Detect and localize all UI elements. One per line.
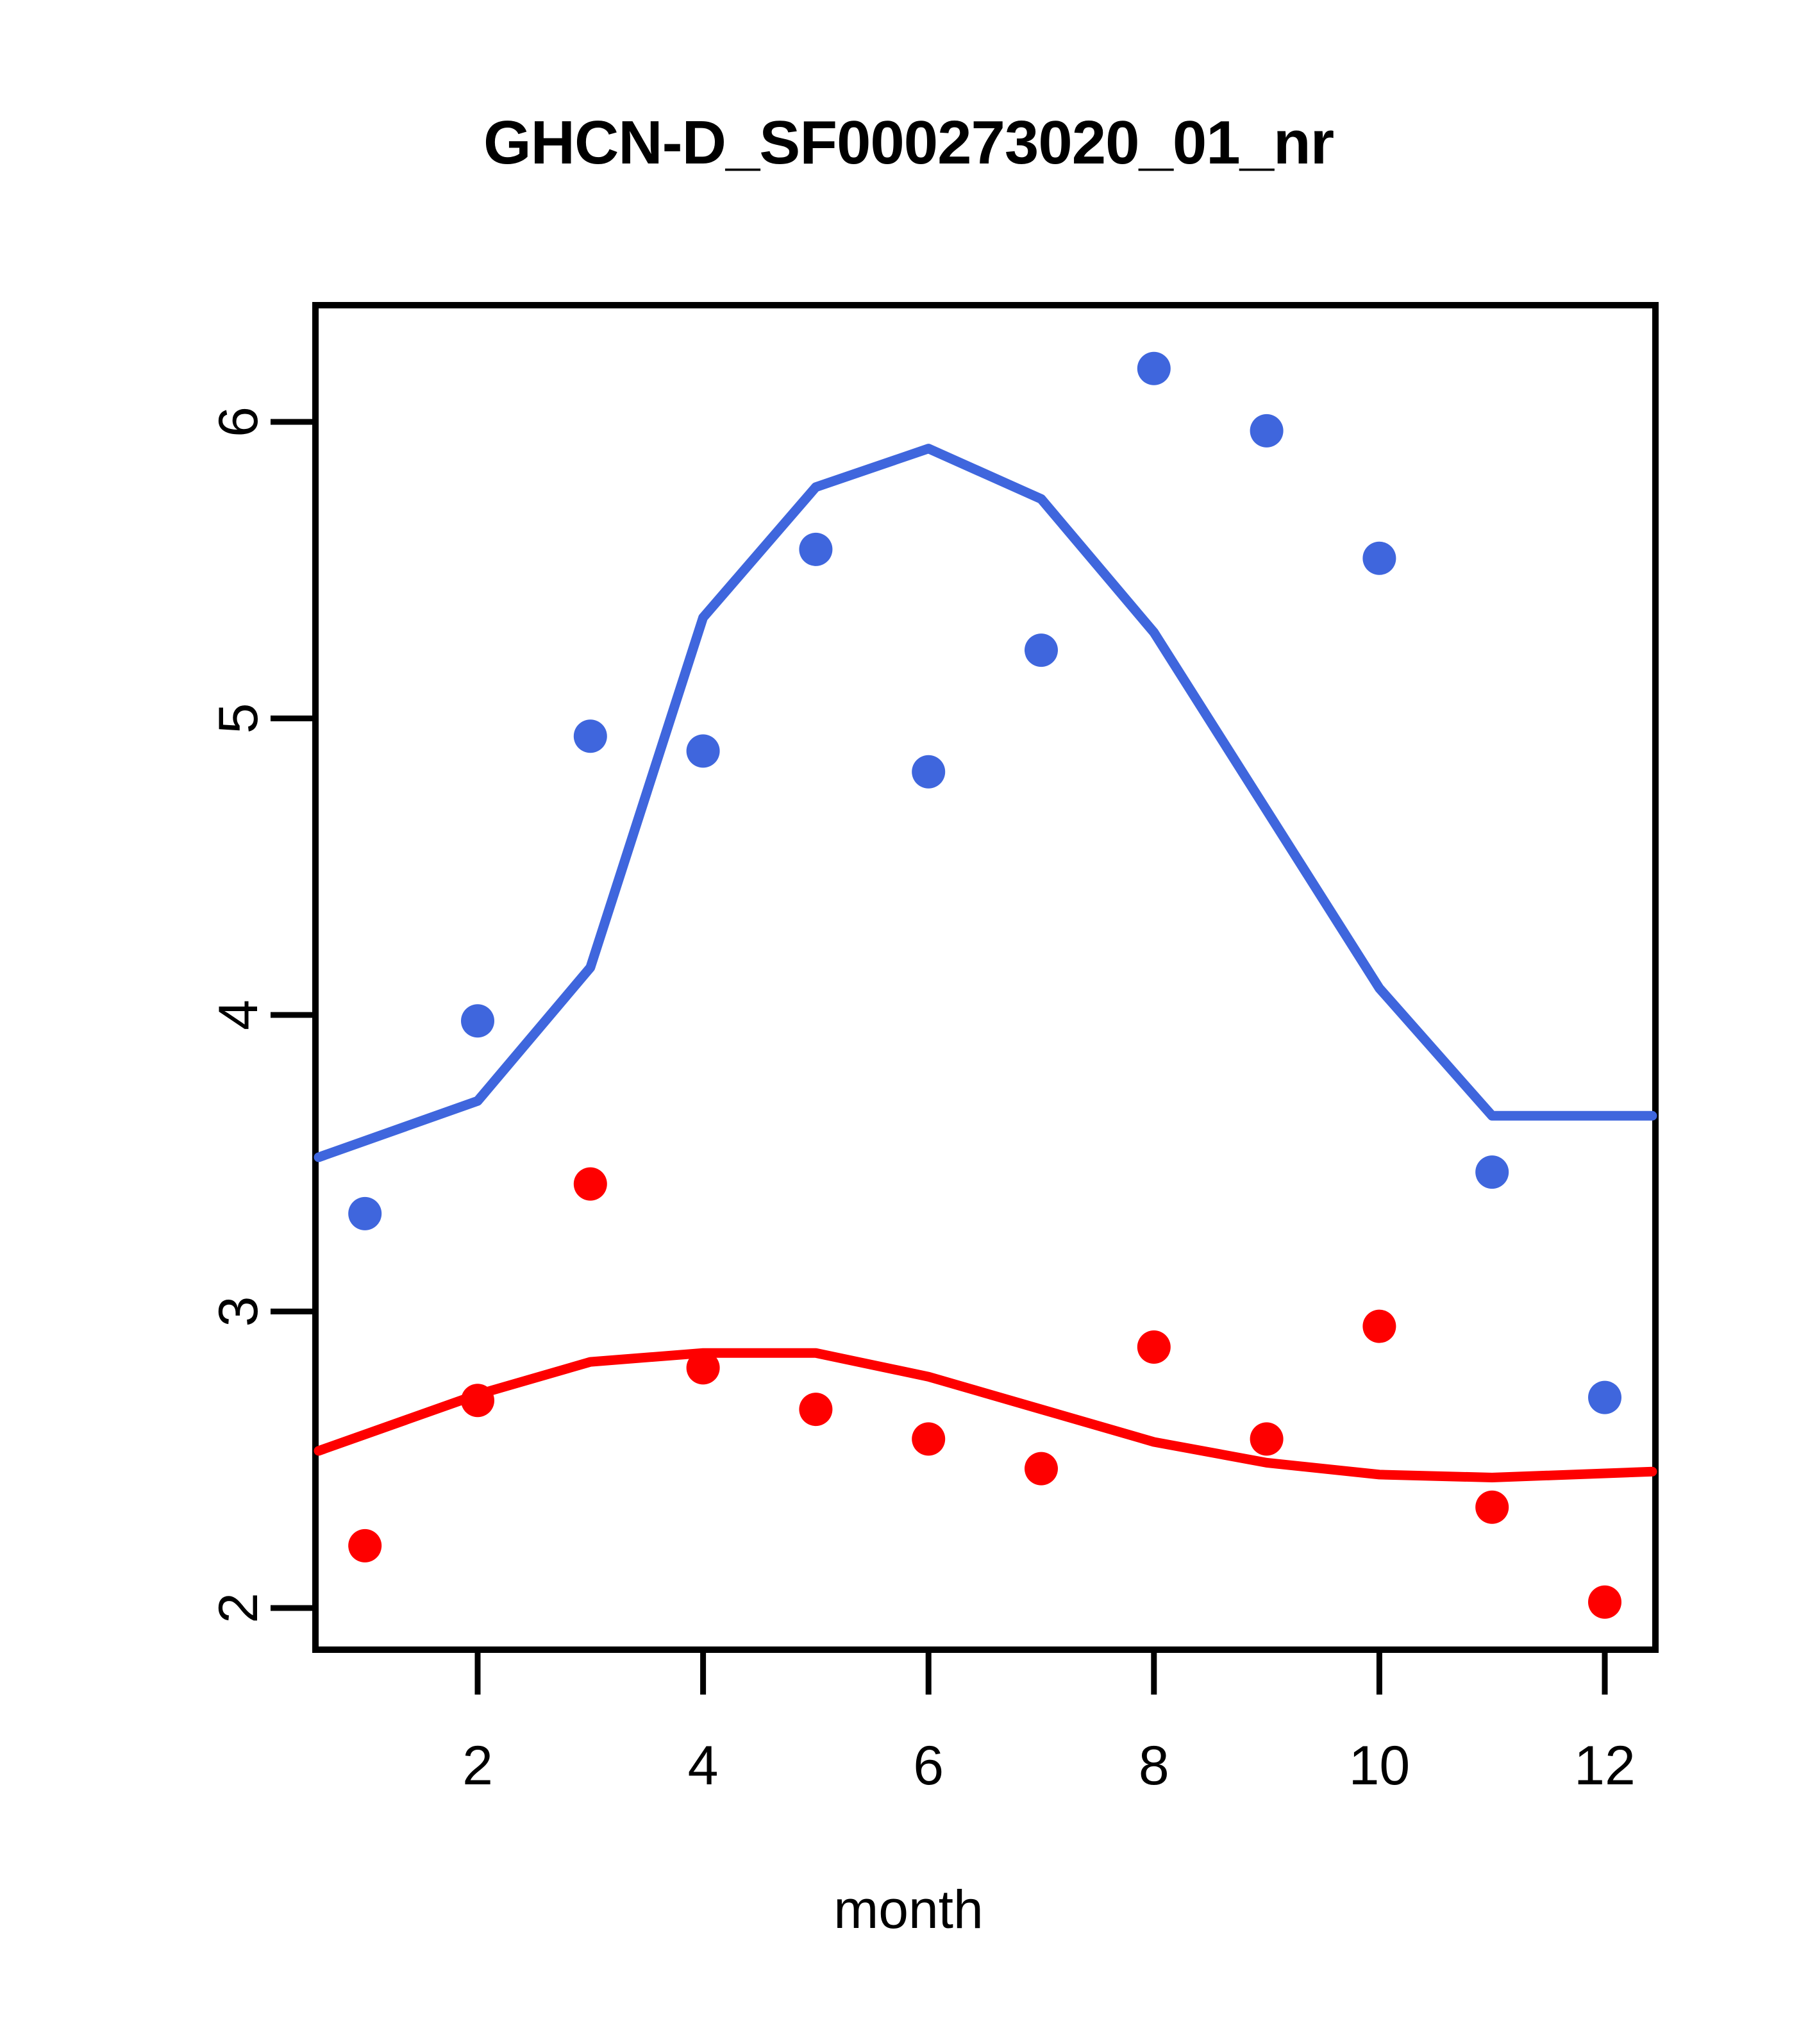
x-axis-tick-label: 2 [462,1735,493,1797]
data-point [461,1384,494,1417]
plot-frame [315,305,1655,1650]
y-axis-tick-label: 5 [208,703,269,734]
data-point [1588,1586,1621,1619]
blue-smooth-line [319,449,1652,1157]
data-point [1025,1452,1058,1486]
y-axis-tick-label: 4 [208,1000,269,1030]
plot-area: 2345624681012 [208,305,1655,1797]
data-point [348,1197,381,1230]
data-point [912,755,945,789]
data-point [461,1004,494,1037]
x-axis-tick-label: 4 [688,1735,719,1797]
data-point [1362,1310,1396,1343]
data-point [799,533,832,566]
x-axis-tick-label: 12 [1574,1735,1636,1797]
data-point [1475,1491,1509,1524]
x-axis-tick-label: 6 [913,1735,944,1797]
data-point [912,1422,945,1455]
data-point [1362,542,1396,575]
red-smooth-line [319,1353,1652,1477]
y-axis-tick-label: 6 [208,406,269,437]
data-point [574,1168,607,1201]
data-point [1137,352,1171,385]
data-point [687,734,720,767]
data-point [1588,1381,1621,1414]
data-point [1025,633,1058,667]
data-point [687,1351,720,1384]
data-point [1475,1155,1509,1189]
plot-canvas: 2345624681012 [0,0,1817,2044]
y-axis-tick-label: 3 [208,1296,269,1327]
x-axis-tick-label: 10 [1349,1735,1411,1797]
data-point [1250,1422,1284,1455]
y-axis-tick-label: 2 [208,1593,269,1623]
data-point [574,719,607,753]
data-point [1137,1330,1171,1364]
data-point [1250,414,1284,448]
x-axis-tick-label: 8 [1139,1735,1169,1797]
chart-figure: GHCN-D_SF000273020_01_nr 2345624681012 m… [0,0,1817,2044]
x-axis-title: month [0,1879,1817,1941]
data-point [799,1393,832,1426]
data-point [348,1529,381,1562]
